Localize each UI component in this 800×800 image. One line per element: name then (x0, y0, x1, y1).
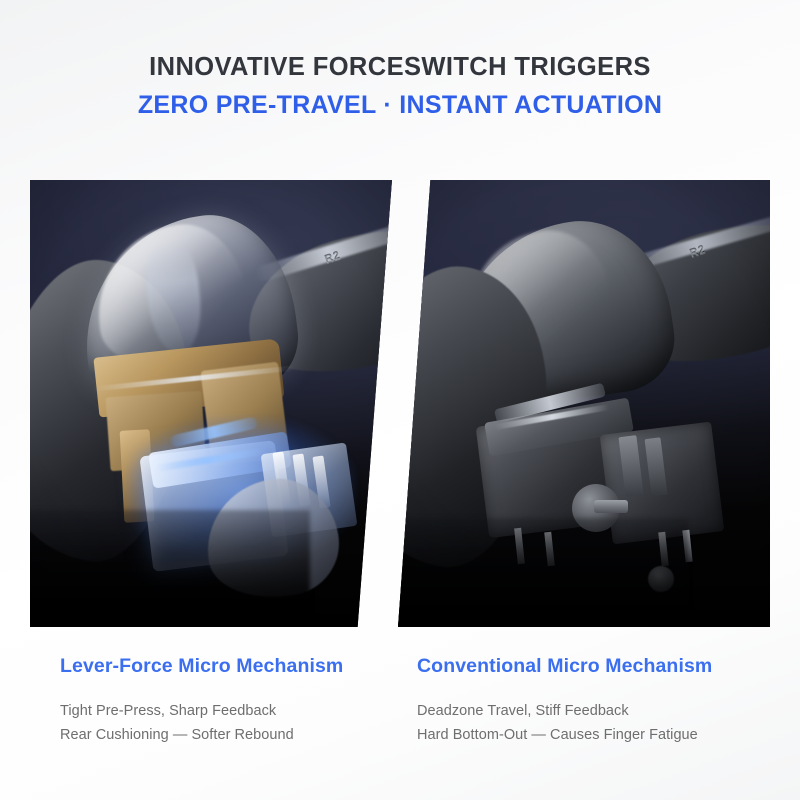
panel-lever-force: R2 (30, 180, 392, 627)
product-feature-page: INNOVATIVE FORCESWITCH TRIGGERS ZERO PRE… (0, 0, 800, 800)
lower-shadow-mass (398, 518, 688, 627)
caption-body: Deadzone Travel, Stiff Feedback Hard Bot… (417, 700, 787, 747)
comparison-panels: R2 (30, 180, 770, 627)
caption-line: Tight Pre-Press, Sharp Feedback (60, 700, 410, 723)
caption-line: Hard Bottom-Out — Causes Finger Fatigue (417, 724, 787, 747)
caption-title: Conventional Micro Mechanism (417, 655, 787, 678)
caption-conventional: Conventional Micro Mechanism Deadzone Tr… (417, 655, 787, 747)
caption-body: Tight Pre-Press, Sharp Feedback Rear Cus… (60, 700, 410, 747)
caption-block: Lever-Force Micro Mechanism Tight Pre-Pr… (0, 655, 800, 775)
page-subtitle: ZERO PRE-TRAVEL · INSTANT ACTUATION (0, 91, 800, 121)
headline-block: INNOVATIVE FORCESWITCH TRIGGERS ZERO PRE… (0, 52, 800, 121)
lower-shadow-mass (30, 510, 310, 627)
pivot-pin (594, 500, 628, 513)
page-title: INNOVATIVE FORCESWITCH TRIGGERS (0, 52, 800, 82)
caption-line: Deadzone Travel, Stiff Feedback (417, 700, 787, 723)
panel-conventional: R2 (398, 180, 770, 627)
caption-title: Lever-Force Micro Mechanism (60, 655, 410, 678)
caption-line: Rear Cushioning — Softer Rebound (60, 724, 410, 747)
caption-lever-force: Lever-Force Micro Mechanism Tight Pre-Pr… (60, 655, 410, 747)
